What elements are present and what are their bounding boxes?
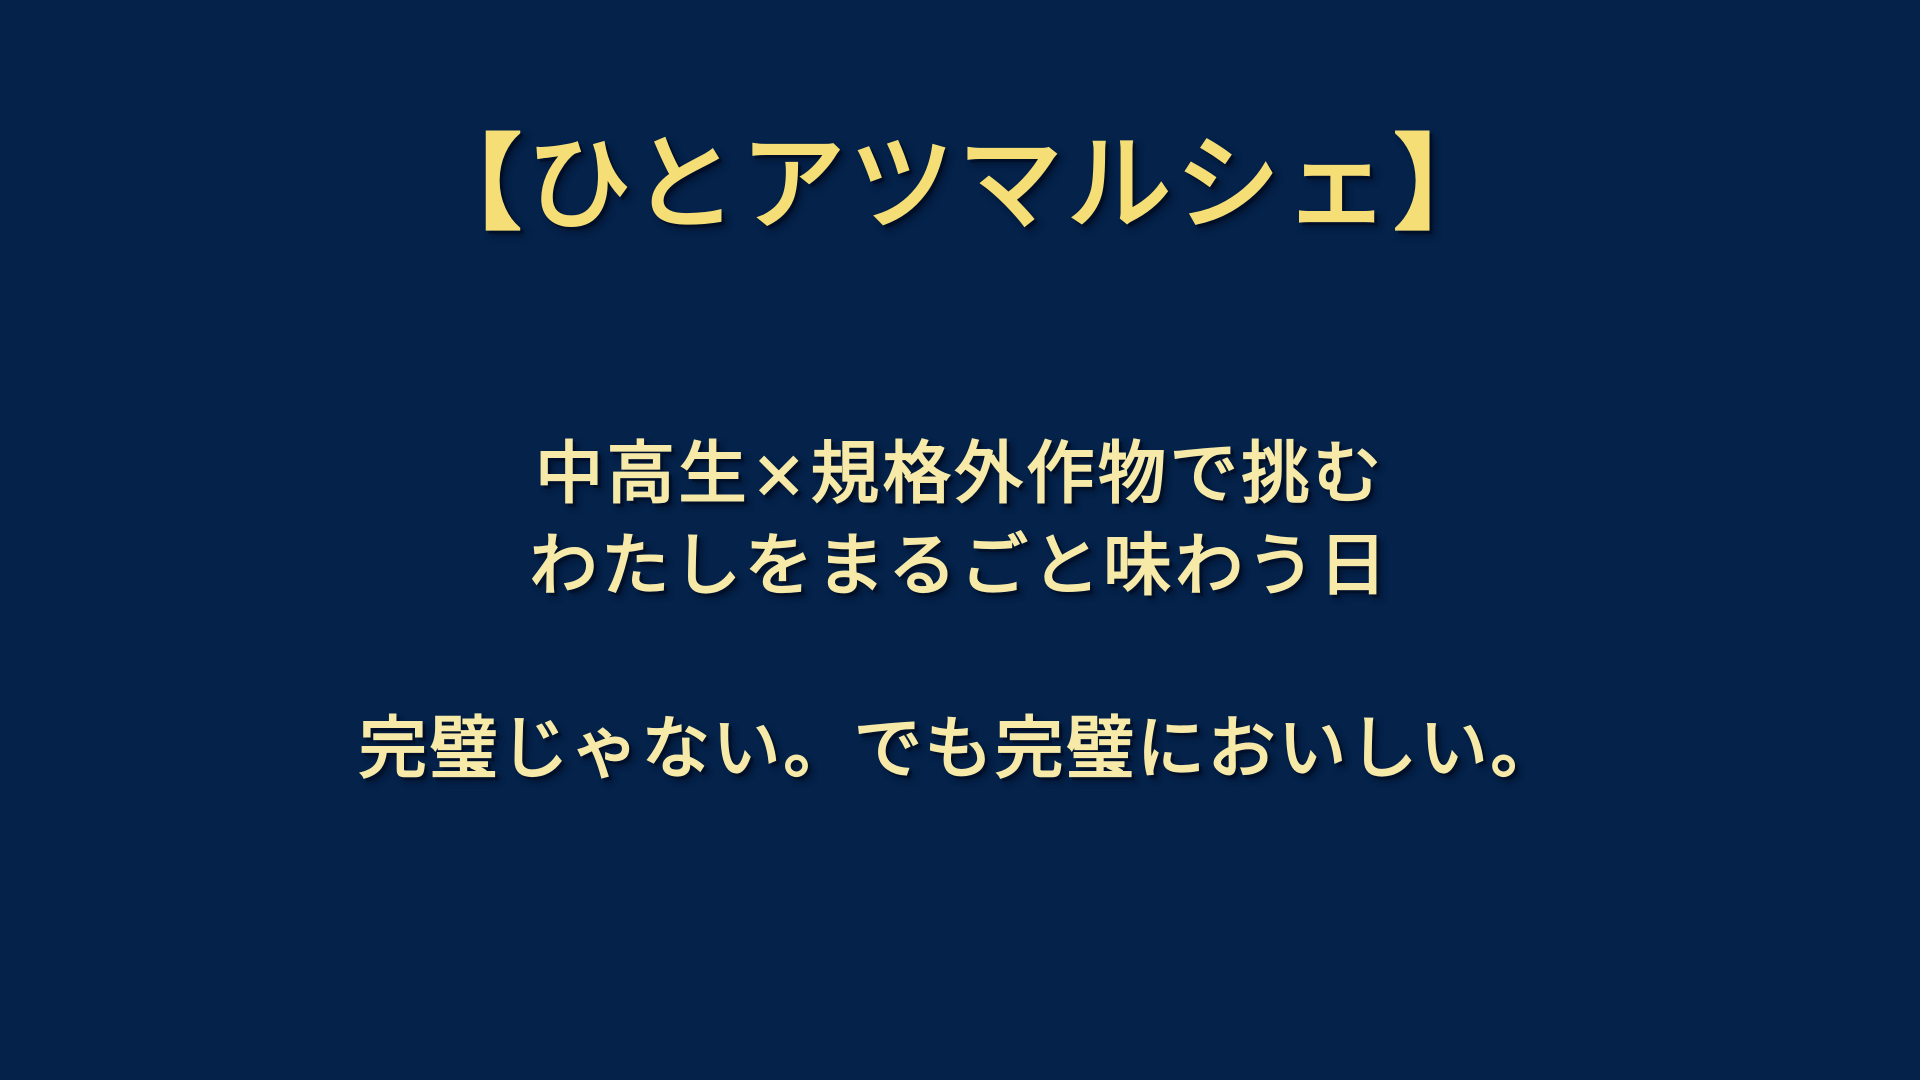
page-title: 【ひとアツマルシェ】	[418, 128, 1502, 240]
tagline: 完璧じゃない。でも完璧においしい。	[359, 705, 1561, 793]
subtitle-block: 中高生×規格外作物で挑む わたしをまるごと味わう日	[0, 428, 1920, 613]
tagline-block: 完璧じゃない。でも完璧においしい。	[0, 705, 1920, 793]
subtitle-line-2: わたしをまるごと味わう日	[0, 520, 1920, 612]
subtitle-line-1: 中高生×規格外作物で挑む	[0, 428, 1920, 520]
title-block: 【ひとアツマルシェ】	[0, 128, 1920, 240]
title-slide: 【ひとアツマルシェ】 中高生×規格外作物で挑む わたしをまるごと味わう日 完璧じ…	[0, 0, 1920, 1080]
